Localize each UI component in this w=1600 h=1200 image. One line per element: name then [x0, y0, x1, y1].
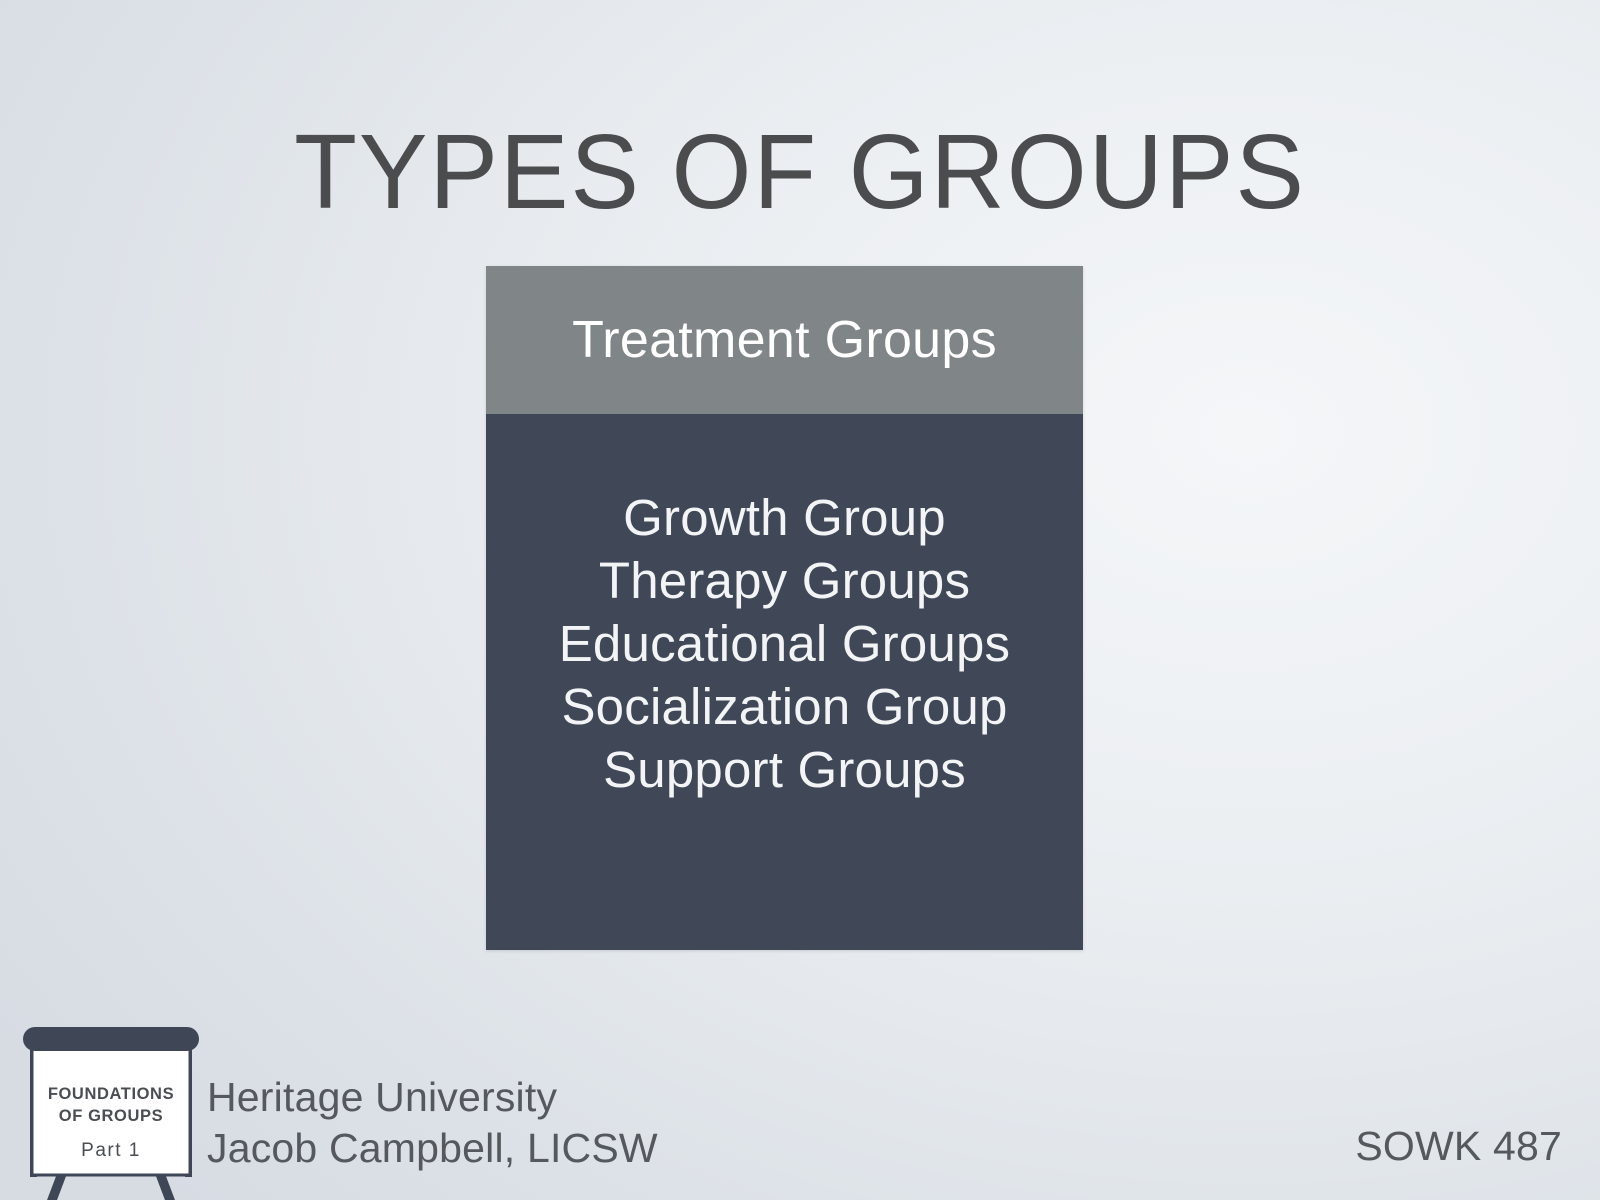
card-body-list: Growth Group Therapy Groups Educational … — [486, 414, 1083, 950]
treatment-groups-card: Treatment Groups Growth Group Therapy Gr… — [486, 266, 1083, 950]
list-item: Support Groups — [603, 738, 966, 801]
list-item: Socialization Group — [561, 675, 1007, 738]
logo-line-2: OF GROUPS — [59, 1107, 163, 1125]
logo-line-3: Part 1 — [81, 1140, 141, 1161]
footer-course-code: SOWK 487 — [1355, 1123, 1562, 1170]
list-item: Growth Group — [623, 486, 946, 549]
footer-attribution: Heritage University Jacob Campbell, LICS… — [207, 1072, 658, 1174]
list-item: Therapy Groups — [599, 549, 970, 612]
logo-line-1: FOUNDATIONS — [48, 1085, 174, 1103]
page-title: TYPES OF GROUPS — [24, 112, 1576, 233]
card-header: Treatment Groups — [486, 266, 1083, 414]
presentation-slide: TYPES OF GROUPS Treatment Groups Growth … — [0, 0, 1600, 1200]
footer-presenter: Jacob Campbell, LICSW — [207, 1123, 658, 1174]
course-logo: FOUNDATIONS OF GROUPS Part 1 — [18, 1013, 204, 1200]
list-item: Educational Groups — [559, 612, 1011, 675]
footer-institution: Heritage University — [207, 1072, 658, 1123]
card-header-label: Treatment Groups — [572, 314, 997, 366]
easel-flipchart-icon: FOUNDATIONS OF GROUPS Part 1 — [18, 1013, 204, 1200]
